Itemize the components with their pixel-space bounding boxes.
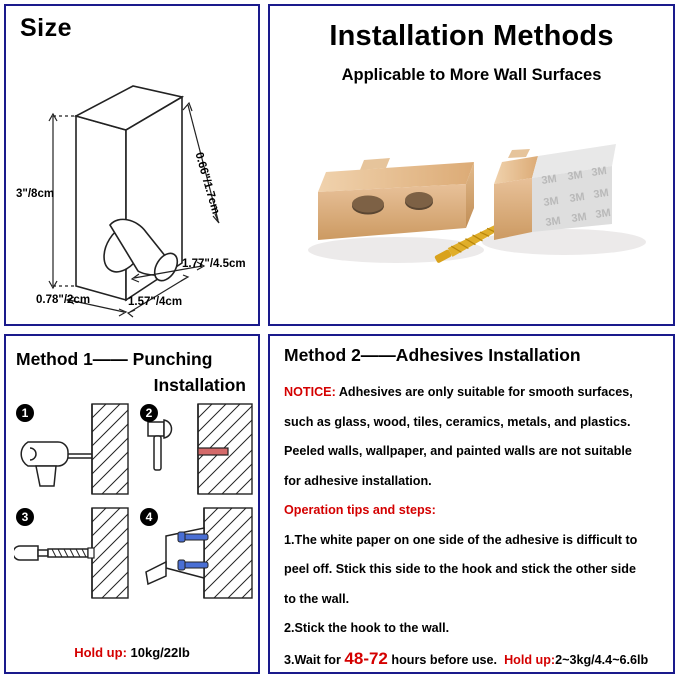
method1-panel: Method 1—— Punching Installation 1 [4, 334, 260, 674]
dim-hook-length: 1.77"/4.5cm [182, 258, 246, 270]
size-diagram [6, 20, 258, 320]
notice-line: NOTICE: Adhesives are only suitable for … [284, 378, 662, 408]
step-2-number: 2 [140, 404, 158, 422]
method1-title-line1: Method 1—— Punching [16, 349, 212, 369]
tip-step1-line1: 1.The white paper on one side of the adh… [284, 526, 662, 556]
tip-step3-duration: 48-72 [344, 649, 387, 668]
step-1: 1 [14, 402, 130, 496]
notice-line-4: for adhesive installation. [284, 467, 662, 497]
svg-text:3M: 3M [567, 169, 584, 183]
svg-text:3M: 3M [541, 173, 558, 187]
svg-text:3M: 3M [545, 215, 562, 229]
tip-step3-post: hours before use. [388, 653, 497, 667]
step-3-number: 3 [16, 508, 34, 526]
svg-text:3M: 3M [571, 211, 588, 225]
step-4-number: 4 [140, 508, 158, 526]
notice-line-2: such as glass, wood, tiles, ceramics, me… [284, 408, 662, 438]
svg-text:3M: 3M [593, 187, 610, 201]
tip-step3-pre: 3.Wait for [284, 653, 344, 667]
step-1-number: 1 [16, 404, 34, 422]
method1-title: Method 1—— Punching Installation [16, 346, 252, 398]
notice-line-3: Peeled walls, wallpaper, and painted wal… [284, 437, 662, 467]
installation-title: Installation Methods [270, 20, 673, 53]
method1-title-line2: Installation [16, 372, 252, 398]
svg-text:3M: 3M [595, 207, 612, 221]
method2-body: NOTICE: Adhesives are only suitable for … [284, 378, 662, 675]
notice-text: Adhesives are only suitable for smooth s… [336, 385, 633, 399]
tip-step1-line2: peel off. Stick this side to the hook an… [284, 555, 662, 585]
svg-text:3M: 3M [591, 165, 608, 179]
svg-text:3M: 3M [569, 191, 586, 205]
tips-heading: Operation tips and steps: [284, 496, 662, 526]
step-4: 4 [138, 506, 254, 600]
dim-depth: 0.78"/2cm [36, 294, 90, 306]
notice-label: NOTICE: [284, 385, 336, 399]
method1-hold-label: Hold up: [74, 645, 127, 660]
dim-height: 3"/8cm [16, 188, 54, 200]
method2-title: Method 2——Adhesives Installation [284, 345, 581, 366]
step-2: 2 [138, 402, 254, 496]
method2-hold-label: Hold up: [504, 653, 555, 667]
method2-hold-value: 2~3kg/4.4~6.6lb [555, 653, 648, 667]
installation-subtitle: Applicable to More Wall Surfaces [270, 66, 673, 85]
method1-hold-value: 10kg/22lb [131, 645, 190, 660]
tip-step1-line3: to the wall. [284, 585, 662, 615]
tip-step2: 2.Stick the hook to the wall. [284, 614, 662, 644]
method1-hold-up: Hold up: 10kg/22lb [6, 645, 258, 660]
product-photo: 3M 3M 3M 3M 3M 3M 3M 3M 3M [286, 100, 659, 306]
svg-text:3M: 3M [543, 195, 560, 209]
step-3: 3 [14, 506, 130, 600]
tip-step3: 3.Wait for 48-72 hours before use. Hold … [284, 644, 662, 676]
method2-panel: Method 2——Adhesives Installation NOTICE:… [268, 334, 675, 674]
hooks-photo-illustration: 3M 3M 3M 3M 3M 3M 3M 3M 3M [286, 100, 659, 306]
installation-methods-panel: Installation Methods Applicable to More … [268, 4, 675, 326]
dim-width: 1.57"/4cm [128, 296, 182, 308]
instruction-sheet: Size [0, 0, 679, 678]
method1-steps: 1 [14, 402, 254, 608]
size-panel: Size [4, 4, 260, 326]
